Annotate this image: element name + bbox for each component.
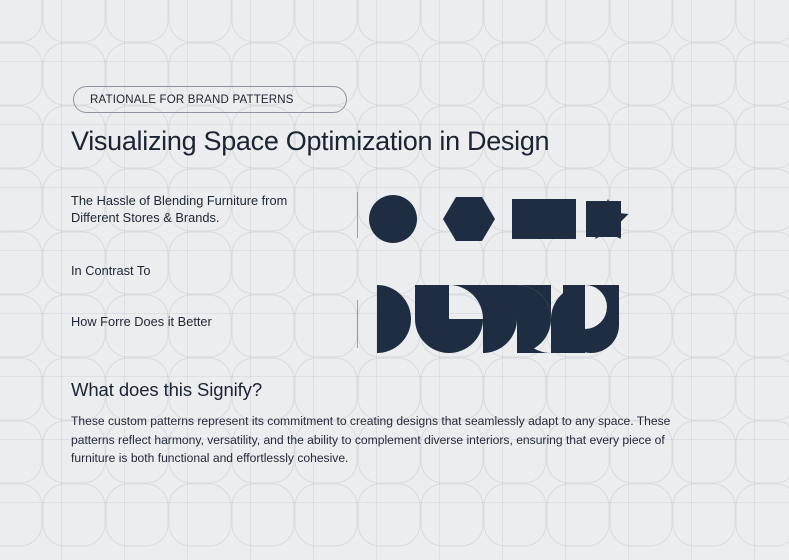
signify-heading: What does this Signify? [71, 379, 262, 401]
signify-body-text: These custom patterns represent its comm… [71, 412, 711, 468]
row-divider-2 [357, 300, 358, 348]
row-divider-1 [357, 192, 358, 238]
background-rounded-squares [0, 0, 789, 560]
background-grid-lines [0, 0, 789, 560]
tile-square-notch-a [415, 285, 449, 319]
tile-quarter-bite-a [449, 285, 483, 319]
tile-quarter-wedge-b [483, 319, 517, 353]
star-shape-wrapper [587, 198, 629, 240]
interlocking-pattern [371, 285, 621, 353]
shape-star [588, 199, 629, 239]
tile-half-disc-a [415, 319, 483, 353]
slide-canvas: RATIONALE FOR BRAND PATTERNS Visualizing… [0, 0, 789, 560]
background-pattern [0, 0, 789, 560]
row-label-hassle: The Hassle of Blending Furniture from Di… [71, 192, 336, 226]
shape-hexagon [443, 197, 495, 241]
row-label-contrast: In Contrast To [71, 262, 150, 279]
separate-shapes-pattern [369, 195, 621, 243]
row-label-forre: How Forre Does it Better [71, 313, 212, 330]
shape-circle [369, 195, 417, 243]
page-title: Visualizing Space Optimization in Design [71, 126, 549, 157]
rationale-badge: RATIONALE FOR BRAND PATTERNS [73, 86, 347, 113]
shape-wide-rectangle [512, 199, 576, 239]
tile-half-circle-left [377, 285, 411, 353]
tile-square-notch-b [483, 285, 517, 319]
